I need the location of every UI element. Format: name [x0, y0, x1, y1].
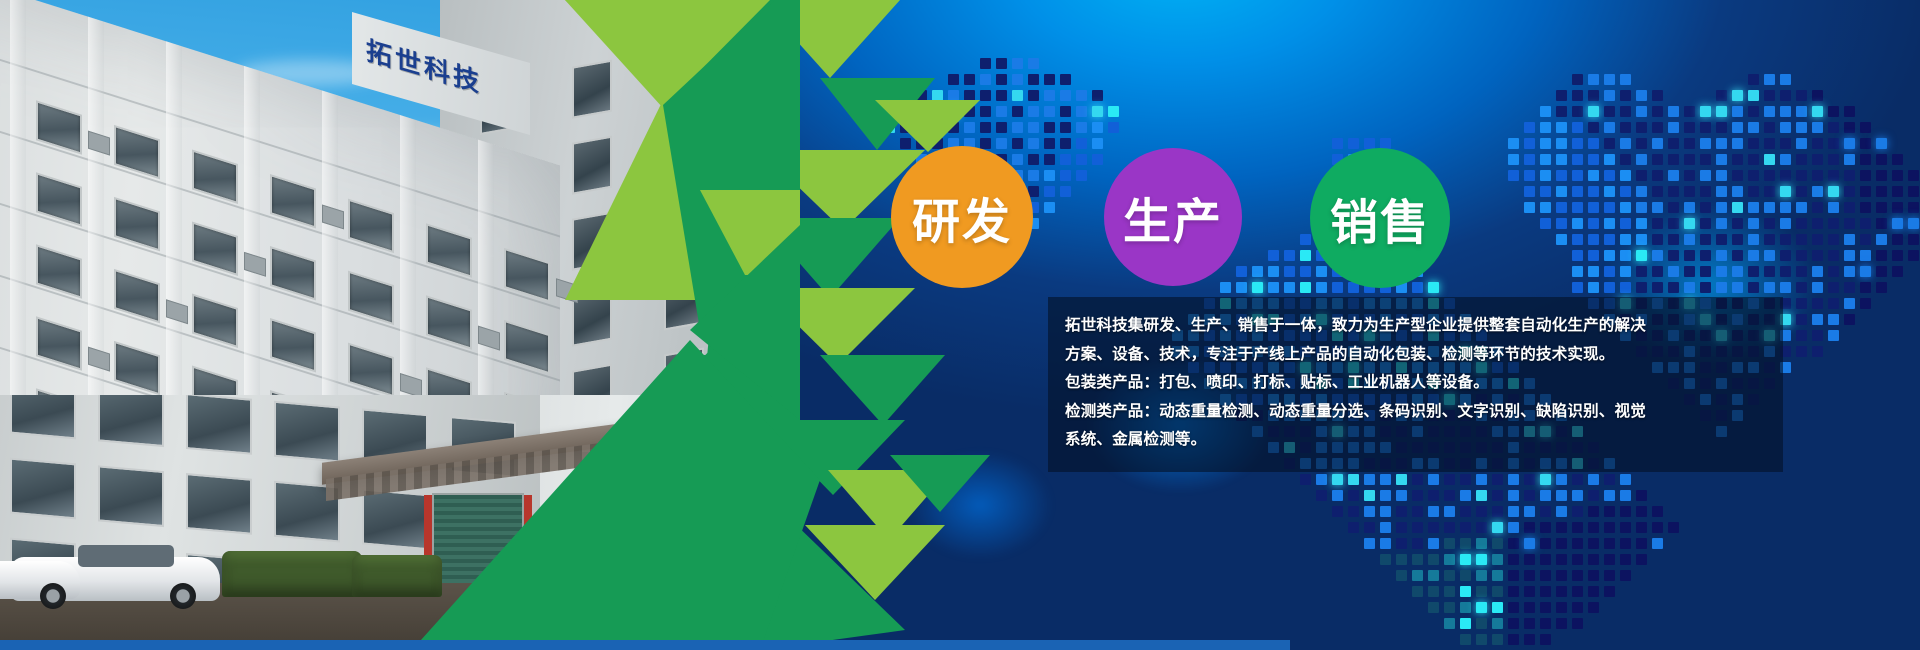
car-wheel: [170, 583, 196, 609]
circle-badge-sales[interactable]: 销售: [1310, 148, 1450, 288]
description-line-1: 拓世科技集研发、生产、销售于一体，致力为生产型企业提供整套自动化生产的解决: [1065, 311, 1775, 340]
description-line-5: 系统、金属检测等。: [1065, 425, 1775, 454]
circle-badge-production[interactable]: 生产: [1104, 148, 1242, 286]
bottom-blue-strip: [0, 640, 1290, 650]
circle-label-production: 生产: [1123, 182, 1223, 252]
hedge: [352, 555, 442, 597]
car-window: [78, 545, 174, 567]
company-description-panel: 拓世科技集研发、生产、销售于一体，致力为生产型企业提供整套自动化生产的解决 方案…: [1048, 297, 1783, 472]
description-line-2: 方案、设备、技术，专注于产线上产品的自动化包装、检测等环节的技术实现。: [1065, 340, 1775, 369]
hedge: [222, 551, 362, 597]
description-line-4: 检测类产品：动态重量检测、动态重量分选、条码识别、文字识别、缺陷识别、视觉: [1065, 397, 1775, 426]
car-wheel: [40, 583, 66, 609]
street-level-scene: [0, 395, 800, 650]
circle-label-research-development: 研发: [912, 182, 1012, 252]
company-description-text: 拓世科技集研发、生产、销售于一体，致力为生产型企业提供整套自动化生产的解决 方案…: [1065, 311, 1775, 454]
description-line-3: 包装类产品：打包、喷印、打标、贴标、工业机器人等设备。: [1065, 368, 1775, 397]
company-hero-banner: 拓世科技 研发 生产 销售: [0, 0, 1920, 650]
hedge: [600, 561, 800, 605]
factory-building-photo: 拓世科技: [0, 0, 800, 650]
circle-badge-research-development[interactable]: 研发: [891, 146, 1033, 288]
circle-label-sales: 销售: [1330, 183, 1430, 253]
